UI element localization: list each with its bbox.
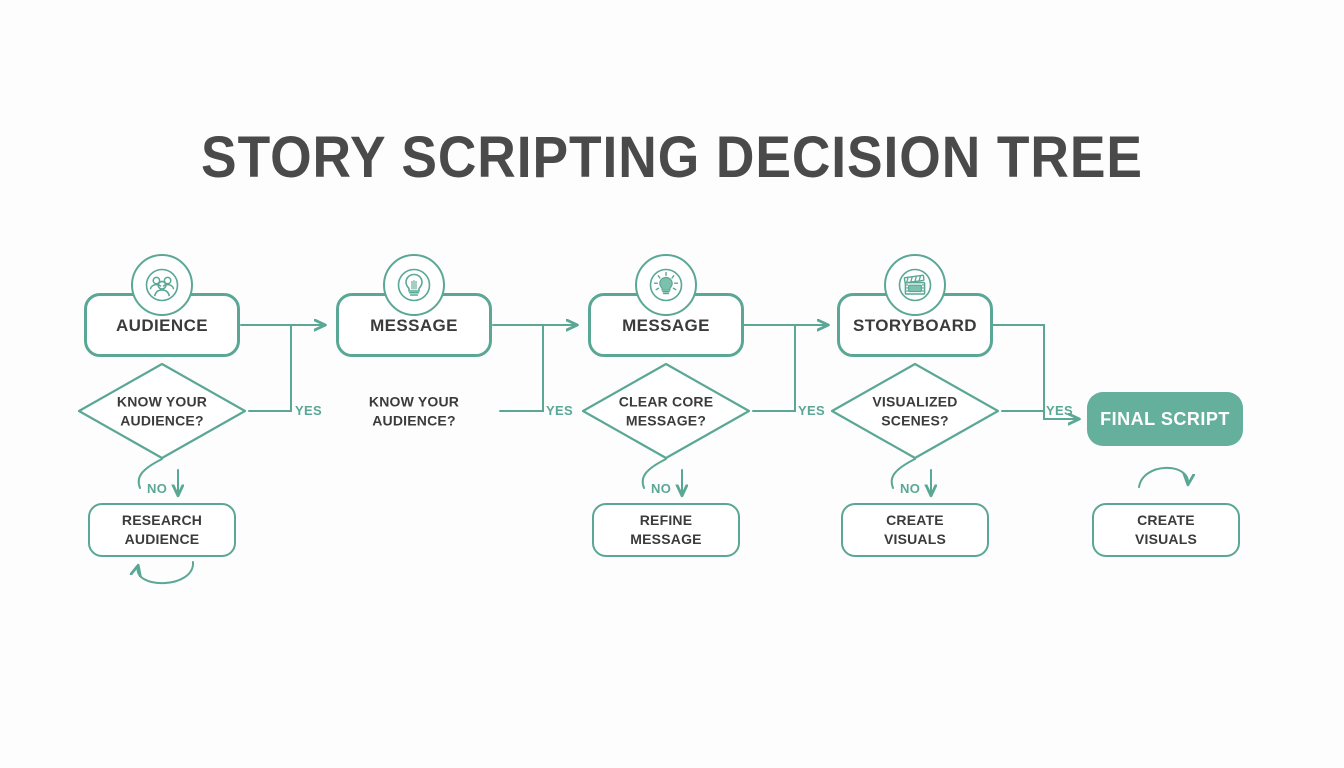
final-script-box[interactable]: FINAL SCRIPT bbox=[1087, 392, 1243, 446]
branch-label-yes-message-idea: YES bbox=[798, 403, 825, 418]
decision-text-clear-core-message: CLEAR CORE MESSAGE? bbox=[580, 392, 752, 429]
stage-label-message-idea: MESSAGE bbox=[622, 316, 710, 336]
people-group-icon-glyph bbox=[144, 267, 180, 303]
branch-label-no-message-idea: NO bbox=[651, 481, 671, 496]
diagram-canvas: STORY SCRIPTING DECISION TREE bbox=[0, 0, 1344, 768]
decision-line-2: AUDIENCE? bbox=[76, 411, 248, 430]
action-line-2: VISUALS bbox=[1135, 531, 1197, 547]
action-box-research-audience[interactable]: RESEARCH AUDIENCE bbox=[88, 503, 236, 557]
action-line-1: CREATE bbox=[886, 512, 944, 528]
people-group-icon bbox=[131, 254, 193, 316]
action-line-2: VISUALS bbox=[884, 531, 946, 547]
branch-label-yes-message-outline: YES bbox=[546, 403, 573, 418]
decision-line-1: CLEAR CORE bbox=[580, 392, 752, 411]
action-box-create-visuals-final[interactable]: CREATE VISUALS bbox=[1092, 503, 1240, 557]
stage-label-storyboard: STORYBOARD bbox=[853, 316, 977, 336]
decision-line-2: SCENES? bbox=[829, 411, 1001, 430]
action-line-2: AUDIENCE bbox=[125, 531, 200, 547]
branch-label-no-storyboard: NO bbox=[900, 481, 920, 496]
action-label-create-visuals-final: CREATE VISUALS bbox=[1135, 511, 1197, 548]
stage-label-message-outline: MESSAGE bbox=[370, 316, 458, 336]
action-line-1: REFINE bbox=[640, 512, 693, 528]
branch-label-no-audience: NO bbox=[147, 481, 167, 496]
decision-line-2: AUDIENCE? bbox=[328, 411, 500, 430]
decision-diamond-know-audience[interactable]: KNOW YOUR AUDIENCE? bbox=[76, 361, 248, 461]
decision-diamond-visualized-scenes[interactable]: VISUALIZED SCENES? bbox=[829, 361, 1001, 461]
action-label-create-visuals-storyboard: CREATE VISUALS bbox=[884, 511, 946, 548]
branch-label-yes-audience: YES bbox=[295, 403, 322, 418]
decision-line-2: MESSAGE? bbox=[580, 411, 752, 430]
stage-label-audience: AUDIENCE bbox=[116, 316, 208, 336]
clapperboard-icon-glyph bbox=[897, 267, 933, 303]
decision-line-1: KNOW YOUR bbox=[328, 392, 500, 411]
lightbulb-filled-idea-icon-glyph bbox=[648, 267, 684, 303]
action-label-refine-message: REFINE MESSAGE bbox=[630, 511, 701, 548]
decision-line-1: VISUALIZED bbox=[829, 392, 1001, 411]
decision-diamond-clear-core-message[interactable]: CLEAR CORE MESSAGE? bbox=[580, 361, 752, 461]
clapperboard-icon bbox=[884, 254, 946, 316]
page-title: STORY SCRIPTING DECISION TREE bbox=[54, 124, 1290, 191]
lightbulb-outline-icon-glyph bbox=[396, 267, 432, 303]
lightbulb-outline-icon bbox=[383, 254, 445, 316]
action-box-create-visuals-storyboard[interactable]: CREATE VISUALS bbox=[841, 503, 989, 557]
decision-text-know-audience-2: KNOW YOUR AUDIENCE? bbox=[328, 392, 500, 429]
action-label-research-audience: RESEARCH AUDIENCE bbox=[122, 511, 202, 548]
final-script-label: FINAL SCRIPT bbox=[1100, 409, 1230, 430]
action-line-1: CREATE bbox=[1137, 512, 1195, 528]
decision-text-know-audience: KNOW YOUR AUDIENCE? bbox=[76, 392, 248, 429]
action-box-refine-message[interactable]: REFINE MESSAGE bbox=[592, 503, 740, 557]
decision-line-1: KNOW YOUR bbox=[76, 392, 248, 411]
decision-text-visualized-scenes: VISUALIZED SCENES? bbox=[829, 392, 1001, 429]
action-line-2: MESSAGE bbox=[630, 531, 701, 547]
branch-label-yes-storyboard: YES bbox=[1046, 403, 1073, 418]
decision-text-block-know-audience-2: KNOW YOUR AUDIENCE? bbox=[328, 361, 500, 461]
action-line-1: RESEARCH bbox=[122, 512, 202, 528]
lightbulb-filled-idea-icon bbox=[635, 254, 697, 316]
